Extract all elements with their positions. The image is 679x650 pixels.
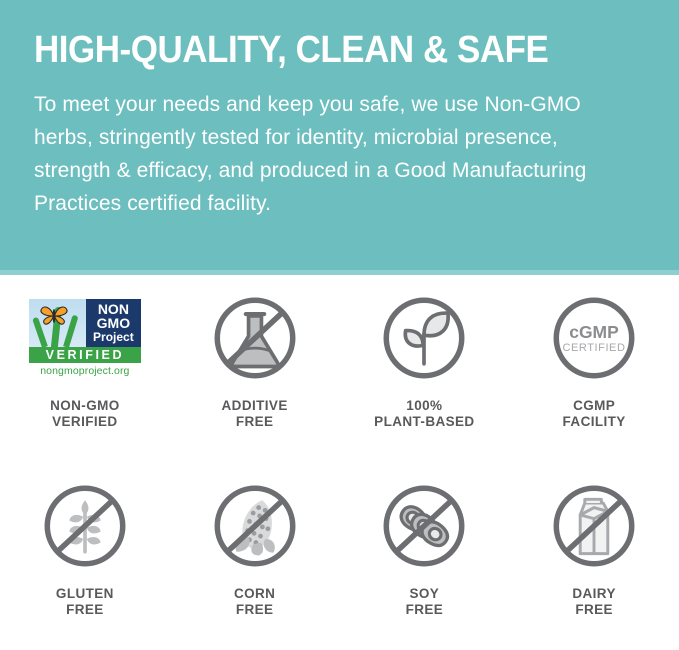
badge-label-line2: FACILITY [563, 414, 626, 430]
gmo-seal-verified-banner: VERIFIED [29, 347, 141, 363]
hero-underline-divider [0, 270, 679, 275]
gmo-seal-word-non: NON [98, 302, 129, 316]
gmo-seal-word-gmo: GMO [97, 316, 130, 330]
badge-label-line2: FREE [222, 414, 288, 430]
butterfly-icon [39, 304, 69, 328]
hero-description: To meet your needs and keep you safe, we… [34, 88, 614, 220]
badge-label-line1: DAIRY [572, 586, 616, 602]
badge-label-line2: FREE [234, 602, 275, 618]
certification-badge-grid: NON GMO Project VERIFIED nongmoproject.o… [0, 286, 679, 650]
gmo-seal-url: nongmoproject.org [29, 365, 141, 377]
badge-label: CGMP FACILITY [563, 398, 626, 430]
badge-label-line2: FREE [406, 602, 444, 618]
hero-banner: HIGH-QUALITY, CLEAN & SAFE To meet your … [0, 0, 679, 270]
badge-label: SOY FREE [406, 586, 444, 618]
badge-label-line2: VERIFIED [50, 414, 120, 430]
gmo-seal-wordmark: NON GMO Project [86, 299, 141, 347]
badge-label-line1: NON-GMO [50, 398, 120, 414]
sprout-leaf-icon [378, 286, 470, 390]
badge-label-line1: 100% [374, 398, 474, 414]
badge-cgmp-facility: cGMP CERTIFIED CGMP FACILITY [509, 286, 679, 462]
badge-label-line1: GLUTEN [56, 586, 114, 602]
cgmp-certified-circle-icon: cGMP CERTIFIED [548, 286, 640, 390]
gmo-seal-word-project: Project [93, 330, 134, 344]
badge-label-line2: FREE [56, 602, 114, 618]
badge-label: GLUTEN FREE [56, 586, 114, 618]
badge-label: 100% PLANT-BASED [374, 398, 474, 430]
badge-label: DAIRY FREE [572, 586, 616, 618]
badge-label: ADDITIVE FREE [222, 398, 288, 430]
badge-label: CORN FREE [234, 586, 275, 618]
non-gmo-project-seal: NON GMO Project VERIFIED nongmoproject.o… [29, 286, 141, 390]
badge-non-gmo-verified: NON GMO Project VERIFIED nongmoproject.o… [0, 286, 170, 462]
page-title: HIGH-QUALITY, CLEAN & SAFE [34, 28, 596, 72]
cgmp-inner-line2: CERTIFIED [563, 342, 626, 354]
badge-label-line2: PLANT-BASED [374, 414, 474, 430]
cgmp-inner-line1: cGMP [569, 322, 619, 342]
badge-label: NON-GMO VERIFIED [50, 398, 120, 430]
gmo-seal-artwork [29, 299, 86, 347]
badge-plant-based: 100% PLANT-BASED [340, 286, 510, 462]
badge-label-line1: CORN [234, 586, 275, 602]
milk-carton-no-slash-icon [548, 474, 640, 578]
badge-label-line1: SOY [406, 586, 444, 602]
badge-label-line2: FREE [572, 602, 616, 618]
wheat-no-slash-icon [39, 474, 131, 578]
certifications-infographic: HIGH-QUALITY, CLEAN & SAFE To meet your … [0, 0, 679, 624]
flask-no-slash-icon [209, 286, 301, 390]
badge-label-line1: CGMP [563, 398, 626, 414]
badge-additive-free: ADDITIVE FREE [170, 286, 340, 462]
soybean-no-slash-icon [378, 474, 470, 578]
badge-label-line1: ADDITIVE [222, 398, 288, 414]
corn-no-slash-icon [209, 474, 301, 578]
